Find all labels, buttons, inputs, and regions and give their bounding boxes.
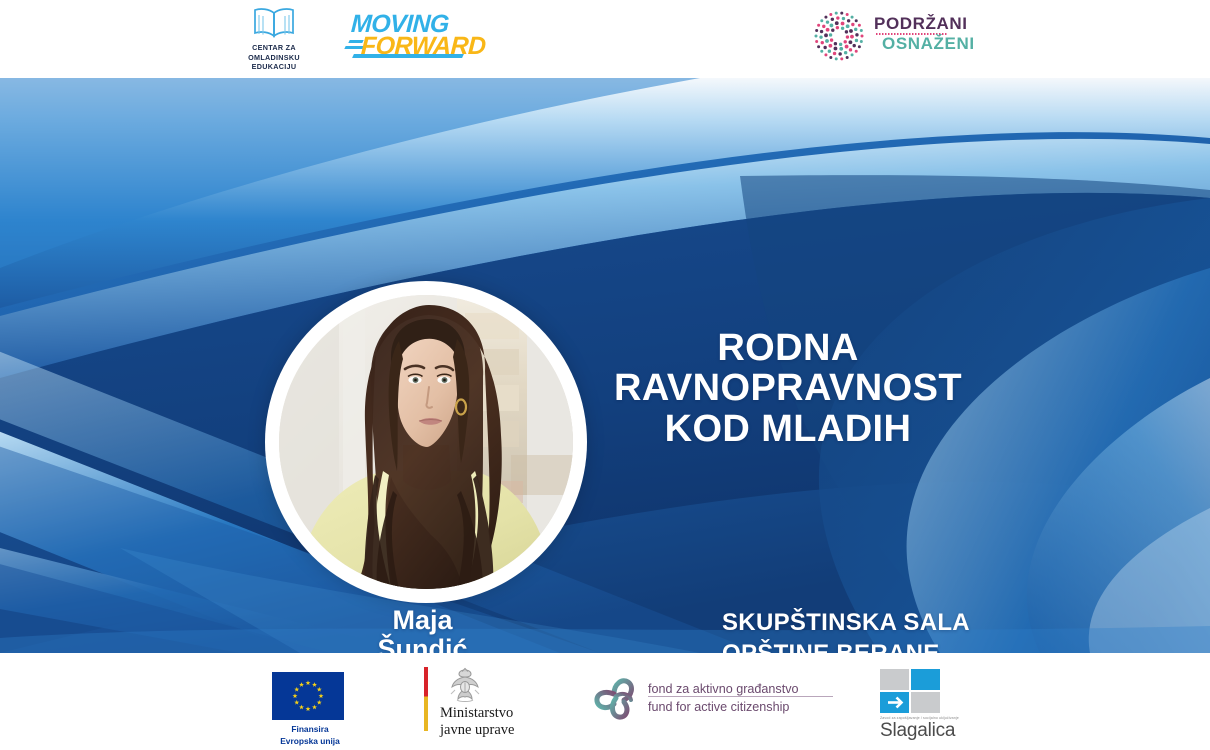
logo-european-union: Finansira Evropska unija (272, 672, 348, 747)
maja-sundic-portrait (279, 295, 573, 589)
open-book-icon (251, 6, 297, 40)
top-logo-bar: CENTAR ZA OMLADINSKU EDUKACIJU MOVING FO… (0, 0, 1210, 78)
logo-centar-line1: CENTAR ZA (228, 43, 320, 53)
title-line-2: RAVNOPRAVNOST (588, 368, 988, 408)
logo-centar-za-omladinsku-edukaciju: CENTAR ZA OMLADINSKU EDUKACIJU (228, 6, 320, 70)
eu-caption-line2: Evropska unija (272, 736, 348, 748)
fakt-divider (648, 696, 833, 697)
fakt-line2: fund for active citizenship (648, 698, 799, 716)
ministry-line1: Ministarstvo (440, 705, 514, 722)
page-title: RODNA RAVNOPRAVNOST KOD MLADIH (588, 328, 988, 449)
logo-ministarstvo-javne-uprave: Ministarstvo javne uprave (424, 667, 544, 733)
puzzle-squares-arrow-icon (880, 669, 942, 715)
footer-logo-bar: Finansira Evropska unija (0, 653, 1210, 750)
logo-centar-label: CENTAR ZA OMLADINSKU EDUKACIJU (228, 43, 320, 72)
poster-root: CENTAR ZA OMLADINSKU EDUKACIJU MOVING FO… (0, 0, 1210, 750)
logo-podrzani-word: PODRŽANI (874, 14, 968, 34)
avatar (265, 281, 587, 603)
logo-slagalica: Zavod za zapošljavanje / socijalno uklju… (880, 669, 966, 739)
main-banner: RODNA RAVNOPRAVNOST KOD MLADIH Maja Šund… (0, 78, 1210, 653)
title-line-1: RODNA (588, 328, 988, 368)
speaker-first-name: Maja (300, 606, 545, 635)
venue-line-1: SKUPŠTINSKA SALA (722, 608, 970, 639)
montenegro-coat-of-arms-icon (446, 667, 484, 705)
slagalica-name: Slagalica (880, 720, 955, 742)
fakt-text: fond za aktivno građanstvo fund for acti… (648, 680, 799, 717)
title-line-3: KOD MLADIH (588, 409, 988, 449)
speaker-last-name: Šundić (300, 635, 545, 653)
dotted-ring-icon (812, 9, 866, 63)
eu-caption-line1: Finansira (272, 724, 348, 736)
ministry-line2: javne uprave (440, 722, 514, 739)
interlocking-loops-icon (590, 672, 642, 724)
ministry-text: Ministarstvo javne uprave (440, 705, 514, 739)
montenegro-flag-bar (424, 667, 428, 731)
speaker-info: Maja Šundić ekspertkinja (300, 606, 545, 653)
logo-podrzani-osnazeni: PODRŽANI OSNAŽENI (812, 7, 982, 65)
venue-line-2: OPŠTINE BERANE (722, 639, 970, 653)
logo-moving-forward: MOVING FORWARD (345, 10, 470, 56)
logo-underline-bar (352, 54, 464, 58)
logo-osnazeni-word: OSNAŽENI (882, 34, 975, 54)
event-details: SKUPŠTINSKA SALA OPŠTINE BERANE 13.02. 1… (722, 608, 970, 653)
logo-fond-za-aktivno-gradjanstvo: fond za aktivno građanstvo fund for acti… (590, 672, 840, 724)
logo-centar-line2: OMLADINSKU EDUKACIJU (228, 53, 320, 72)
eu-flag-icon (272, 672, 344, 720)
eu-caption: Finansira Evropska unija (272, 724, 348, 747)
